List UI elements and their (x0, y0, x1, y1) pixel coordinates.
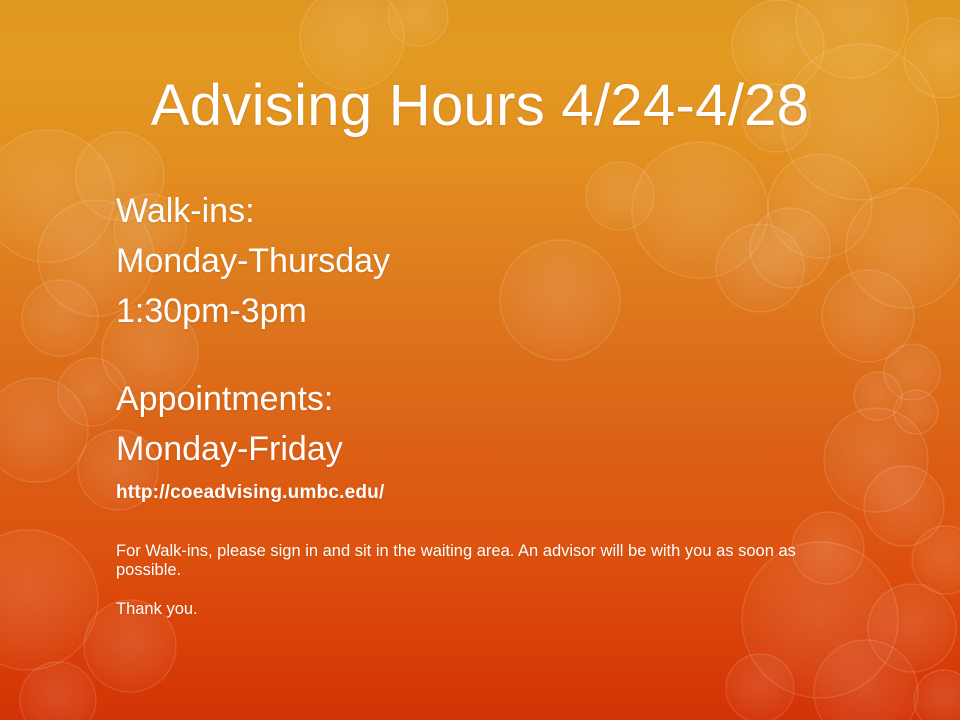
note-spacer (116, 508, 876, 542)
walkins-heading: Walk-ins: (116, 186, 876, 236)
slide-body: Walk-ins: Monday-Thursday 1:30pm-3pm App… (116, 186, 876, 619)
walkin-instruction-note: For Walk-ins, please sign in and sit in … (116, 542, 846, 580)
section-spacer (116, 336, 876, 374)
appointments-days: Monday-Friday (116, 424, 876, 474)
walkins-time: 1:30pm-3pm (116, 286, 876, 336)
slide-canvas: Advising Hours 4/24-4/28 Walk-ins: Monda… (0, 0, 960, 720)
thank-you-note: Thank you. (116, 600, 846, 619)
advising-url-link[interactable]: http://coeadvising.umbc.edu/ (116, 478, 876, 508)
walkins-days: Monday-Thursday (116, 236, 876, 286)
slide-title: Advising Hours 4/24-4/28 (0, 76, 960, 137)
appointments-heading: Appointments: (116, 374, 876, 424)
slide-content: Advising Hours 4/24-4/28 Walk-ins: Monda… (0, 0, 960, 720)
